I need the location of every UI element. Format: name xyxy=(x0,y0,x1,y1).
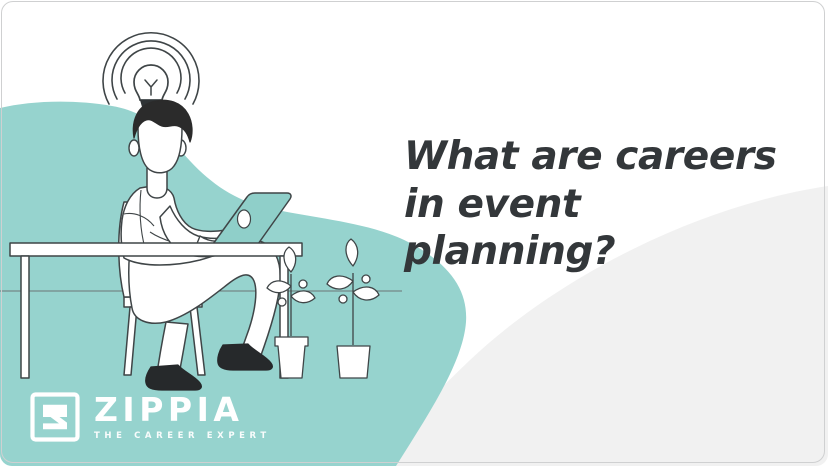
slide-card: What are careers in event planning? ZIPP… xyxy=(0,0,828,466)
zippia-logo-text: ZIPPIA THE CAREER EXPERT xyxy=(94,393,271,441)
zippia-logo[interactable]: ZIPPIA THE CAREER EXPERT xyxy=(30,392,271,442)
zippia-z-mark xyxy=(30,392,80,442)
person-ear-left xyxy=(129,140,139,156)
zippia-wordmark: ZIPPIA xyxy=(94,393,271,426)
page-title: What are careers in event planning? xyxy=(404,133,794,276)
laptop-logo xyxy=(238,210,251,228)
zippia-tagline: THE CAREER EXPERT xyxy=(94,432,271,441)
